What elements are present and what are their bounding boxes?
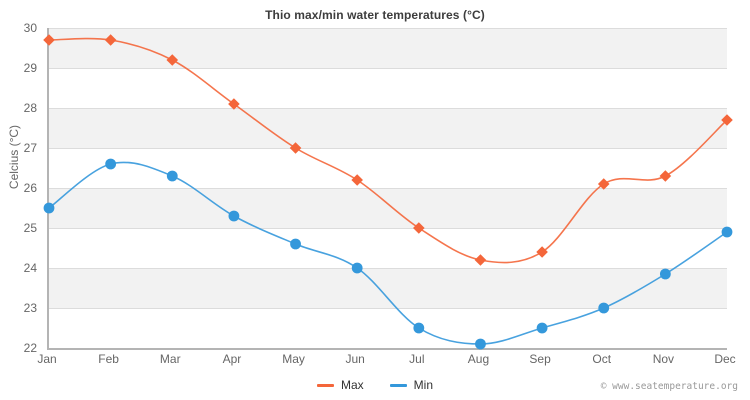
- x-tick-sep: Sep: [529, 352, 550, 366]
- data-point-min-jun[interactable]: [352, 263, 363, 274]
- legend-label: Min: [414, 378, 433, 392]
- data-point-max-sep[interactable]: [536, 246, 548, 258]
- credit-text: © www.seatemperature.org: [601, 381, 738, 392]
- y-tick-30: 30: [24, 21, 37, 35]
- legend-item-max[interactable]: Max: [317, 378, 364, 392]
- data-point-max-nov[interactable]: [660, 170, 672, 182]
- data-point-min-aug[interactable]: [475, 339, 486, 350]
- data-point-max-jun[interactable]: [351, 174, 363, 186]
- x-tick-jan: Jan: [37, 352, 56, 366]
- data-point-min-jul[interactable]: [413, 323, 424, 334]
- data-point-max-feb[interactable]: [105, 34, 117, 46]
- x-tick-jul: Jul: [409, 352, 424, 366]
- y-tick-26: 26: [24, 181, 37, 195]
- data-point-max-apr[interactable]: [228, 98, 240, 110]
- x-tick-jun: Jun: [345, 352, 364, 366]
- plot-area: [47, 28, 727, 350]
- y-tick-28: 28: [24, 101, 37, 115]
- y-tick-23: 23: [24, 301, 37, 315]
- legend-item-min[interactable]: Min: [390, 378, 433, 392]
- x-tick-may: May: [282, 352, 305, 366]
- x-tick-apr: Apr: [223, 352, 242, 366]
- data-point-max-aug[interactable]: [475, 254, 487, 266]
- y-tick-22: 22: [24, 341, 37, 355]
- x-tick-oct: Oct: [592, 352, 611, 366]
- x-axis-tick-labels: JanFebMarAprMayJunJulAugSepOctNovDec: [47, 352, 725, 372]
- x-tick-aug: Aug: [468, 352, 489, 366]
- y-tick-27: 27: [24, 141, 37, 155]
- data-point-min-dec[interactable]: [722, 227, 733, 238]
- y-tick-24: 24: [24, 261, 37, 275]
- x-tick-dec: Dec: [714, 352, 735, 366]
- data-point-max-oct[interactable]: [598, 178, 610, 190]
- data-point-min-oct[interactable]: [598, 303, 609, 314]
- data-point-min-nov[interactable]: [660, 269, 671, 280]
- data-point-max-may[interactable]: [290, 142, 302, 154]
- series-line-min: [49, 162, 727, 344]
- series-line-max: [49, 39, 727, 263]
- data-point-min-mar[interactable]: [167, 171, 178, 182]
- x-tick-nov: Nov: [653, 352, 674, 366]
- series-plot: [49, 28, 727, 348]
- data-point-min-feb[interactable]: [105, 159, 116, 170]
- chart-container: Thio max/min water temperatures (°C) 222…: [0, 0, 750, 400]
- y-tick-29: 29: [24, 61, 37, 75]
- data-point-min-sep[interactable]: [537, 323, 548, 334]
- legend-swatch-min-icon: [390, 384, 407, 387]
- data-point-min-jan[interactable]: [44, 203, 55, 214]
- data-point-max-mar[interactable]: [166, 54, 178, 66]
- data-point-min-apr[interactable]: [229, 211, 240, 222]
- data-point-max-jul[interactable]: [413, 222, 425, 234]
- data-point-max-jan[interactable]: [43, 34, 55, 46]
- legend-swatch-max-icon: [317, 384, 334, 387]
- y-tick-25: 25: [24, 221, 37, 235]
- legend-label: Max: [341, 378, 364, 392]
- chart-title: Thio max/min water temperatures (°C): [0, 8, 750, 22]
- x-tick-mar: Mar: [160, 352, 181, 366]
- data-point-min-may[interactable]: [290, 239, 301, 250]
- x-tick-feb: Feb: [98, 352, 119, 366]
- y-axis-title: Celcius (°C): [7, 7, 21, 307]
